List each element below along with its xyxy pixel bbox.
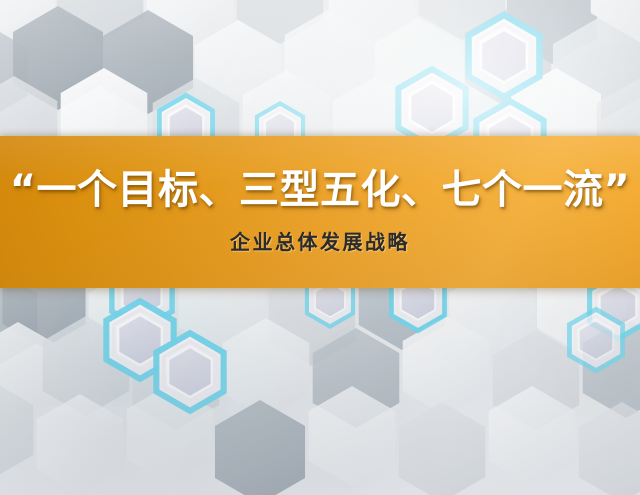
title-banner: “一个目标、三型五化、七个一流” 企业总体发展战略 (0, 136, 640, 288)
slide-title: “一个目标、三型五化、七个一流” (10, 169, 631, 212)
banner-content: “一个目标、三型五化、七个一流” 企业总体发展战略 (0, 136, 640, 288)
presentation-slide: “一个目标、三型五化、七个一流” 企业总体发展战略 (0, 0, 640, 495)
slide-subtitle: 企业总体发展战略 (230, 226, 410, 255)
